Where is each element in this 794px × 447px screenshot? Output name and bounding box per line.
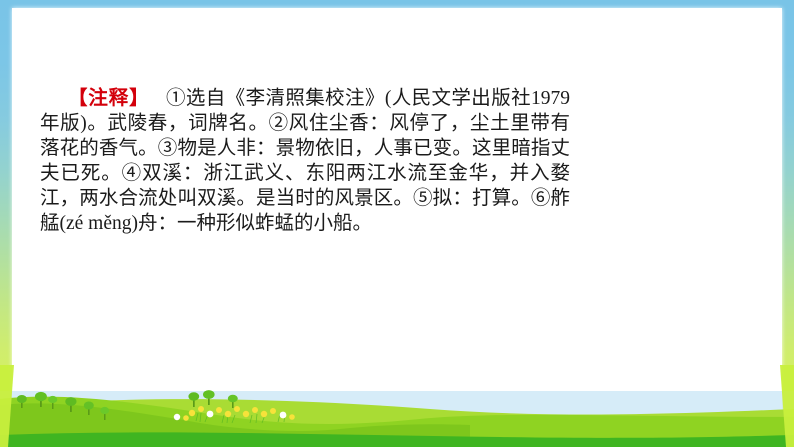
flower-icon (252, 407, 258, 413)
flower-icon (234, 406, 240, 412)
bottom-scenery-decoration (0, 365, 794, 447)
flower-icon (174, 414, 180, 420)
slide-canvas: 【注释】①选自《李清照集校注》(人民文学出版社1979年版)。武陵春，词牌名。②… (0, 0, 794, 447)
flower-icon (270, 408, 276, 414)
flower-icon (198, 406, 204, 412)
flower-icon (183, 415, 189, 421)
flower-icon (216, 407, 222, 413)
flower-icon (207, 411, 214, 418)
flower-icon (289, 414, 295, 420)
annotation-text-block: 【注释】①选自《李清照集校注》(人民文学出版社1979年版)。武陵春，词牌名。②… (40, 86, 570, 236)
flower-icon (243, 411, 249, 417)
flower-icon (189, 410, 195, 416)
flower-icon (225, 411, 231, 417)
annotation-body-text: ①选自《李清照集校注》(人民文学出版社1979年版)。武陵春，词牌名。②风住尘香… (40, 88, 570, 234)
flower-icon (261, 411, 267, 417)
flower-icon (280, 412, 287, 419)
annotation-tag-label: 【注释】 (68, 88, 150, 109)
